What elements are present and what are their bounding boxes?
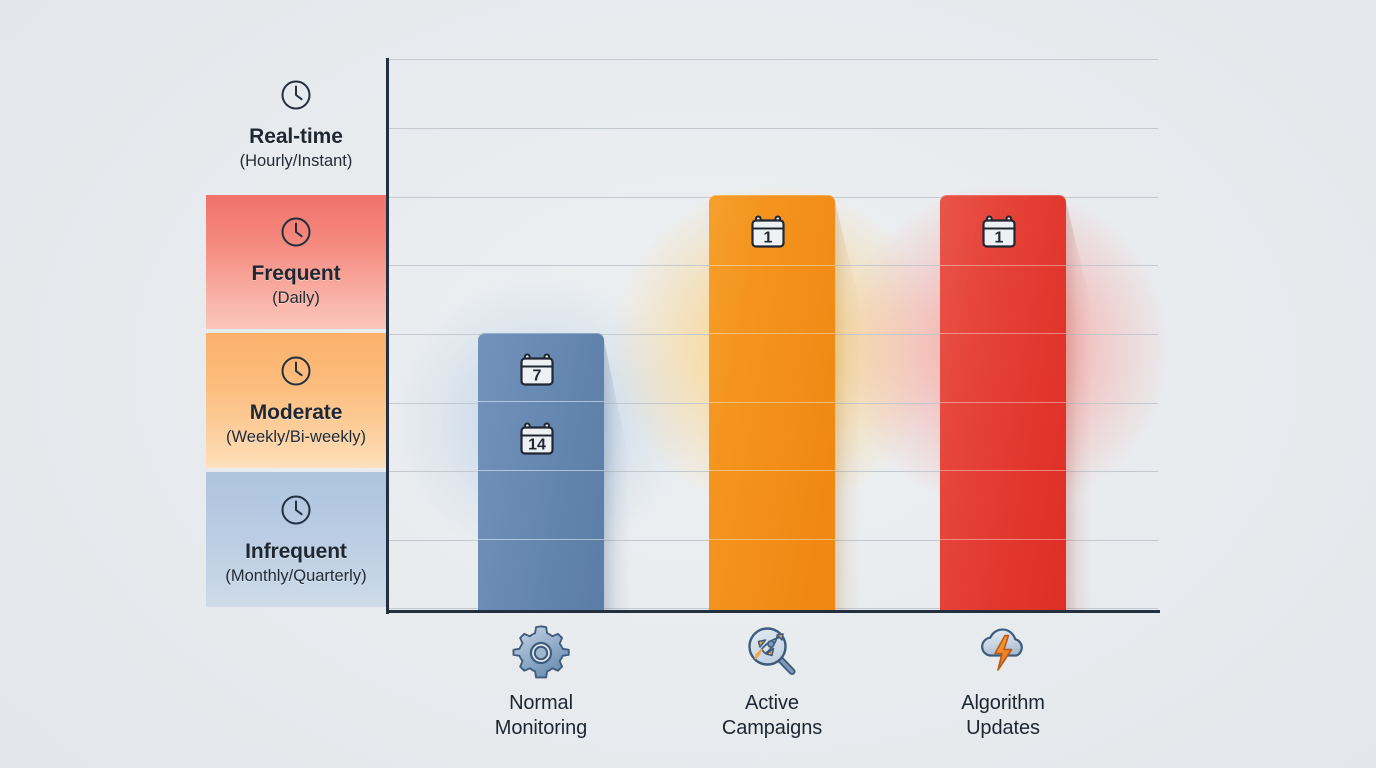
x-category-label: Algorithm Updates [961, 691, 1045, 741]
x-label-line2: Monitoring [495, 717, 587, 739]
y-band-title: Moderate [250, 402, 343, 424]
chart-canvas: Real-time (Hourly/Instant) Frequent (Dai… [0, 0, 1376, 768]
storm-cloud-icon [974, 622, 1032, 685]
clock-icon [279, 493, 313, 532]
x-label-line1: Normal [509, 692, 573, 714]
x-axis-line [386, 610, 1160, 613]
calendar-icon: 14 [517, 416, 565, 469]
y-band-title: Frequent [251, 263, 340, 285]
calendar-value: 7 [533, 368, 542, 385]
bar-segment-line [478, 539, 604, 540]
x-label-line1: Active [745, 692, 799, 714]
y-axis-line [386, 58, 389, 614]
y-band-moderate: Moderate (Weekly/Bi-weekly) [206, 333, 386, 468]
calendar-icon: 7 [517, 347, 565, 400]
clock-icon [279, 215, 313, 254]
bar-segment-line [709, 470, 835, 471]
bar-segment-line [709, 539, 835, 540]
y-band-title: Infrequent [245, 541, 347, 563]
calendar-value: 1 [995, 230, 1004, 247]
calendar-value: 14 [528, 437, 546, 454]
rocket-magnifier-icon [743, 622, 801, 685]
x-category-algorithm-updates[interactable]: Algorithm Updates [898, 622, 1108, 741]
y-band-realtime: Real-time (Hourly/Instant) [206, 59, 386, 190]
x-category-active-campaigns[interactable]: Active Campaigns [667, 622, 877, 741]
y-band-sublabel: (Monthly/Quarterly) [225, 566, 366, 587]
bar-segment-line [478, 401, 604, 402]
clock-icon [279, 354, 313, 393]
x-label-line1: Algorithm [961, 692, 1045, 714]
x-label-line2: Updates [966, 717, 1040, 739]
y-band-infrequent: Infrequent (Monthly/Quarterly) [206, 472, 386, 607]
y-band-sublabel: (Weekly/Bi-weekly) [226, 427, 366, 448]
x-category-normal-monitoring[interactable]: Normal Monitoring [436, 622, 646, 741]
calendar-icon: 1 [748, 209, 796, 262]
clock-icon [279, 78, 313, 117]
gridline [388, 128, 1158, 129]
y-band-title: Real-time [249, 126, 343, 148]
gridline [388, 59, 1158, 60]
bar-algorithm-updates[interactable]: 1 [940, 195, 1066, 610]
y-band-sublabel: (Daily) [272, 288, 320, 309]
bar-normal-monitoring[interactable]: 7 14 [478, 333, 604, 610]
gear-icon [512, 622, 570, 685]
x-category-label: Active Campaigns [722, 691, 822, 741]
x-category-label: Normal Monitoring [495, 691, 587, 741]
bar-segment-line [709, 402, 835, 403]
x-label-line2: Campaigns [722, 717, 822, 739]
bar-segment-line [940, 402, 1066, 403]
bar-segment-line [940, 265, 1066, 266]
bar-segment-line [940, 333, 1066, 334]
y-band-sublabel: (Hourly/Instant) [240, 151, 353, 172]
bar-segment-line [478, 470, 604, 471]
bar-segment-line [940, 539, 1066, 540]
y-band-frequent: Frequent (Daily) [206, 195, 386, 329]
calendar-icon: 1 [979, 209, 1027, 262]
calendar-value: 1 [764, 230, 773, 247]
bar-segment-line [709, 333, 835, 334]
bar-segment-line [709, 265, 835, 266]
bar-active-campaigns[interactable]: 1 [709, 195, 835, 610]
bar-segment-line [940, 470, 1066, 471]
